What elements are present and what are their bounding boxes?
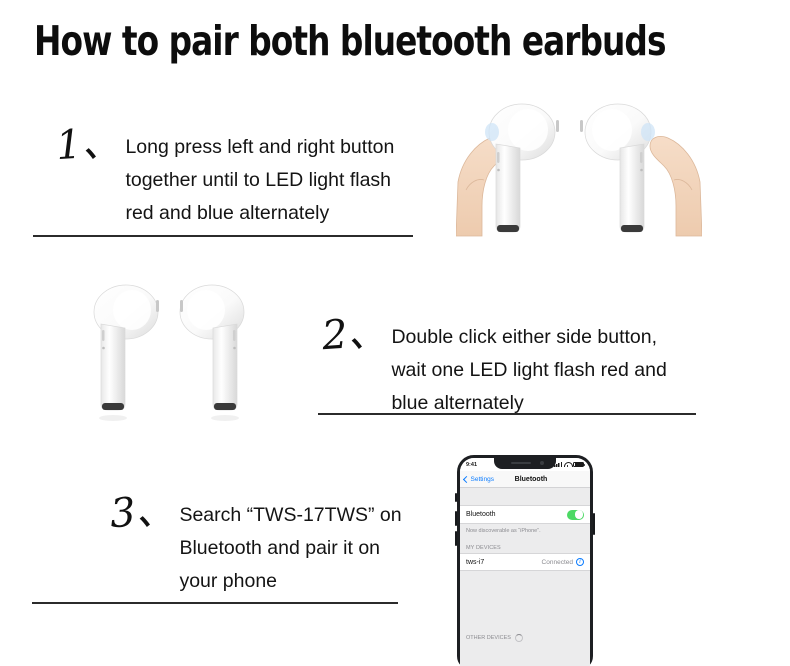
pairing-instruction-poster: How to pair both bluetooth earbuds 1、 Lo… <box>0 0 790 666</box>
iphone-bluetooth-screenshot: 9:41 Settings Bluetooth Bluetooth <box>457 455 593 666</box>
wifi-icon <box>564 462 571 467</box>
phone-volume-up-button <box>455 511 457 526</box>
battery-icon <box>573 462 584 468</box>
phone-screen: 9:41 Settings Bluetooth Bluetooth <box>460 458 590 666</box>
other-devices-label: OTHER DEVICES <box>466 635 511 641</box>
other-devices-section-header: OTHER DEVICES <box>460 631 590 645</box>
device-name: tws-i7 <box>466 559 484 566</box>
status-bar-icons <box>554 462 584 468</box>
list-empty-area <box>460 571 590 631</box>
bluetooth-toggle-switch[interactable] <box>567 510 584 520</box>
step-2-number: 2、 <box>321 312 389 356</box>
divider-2 <box>318 413 696 415</box>
divider-3 <box>32 602 398 604</box>
divider-1 <box>33 235 413 237</box>
step-3-number: 3、 <box>109 490 177 534</box>
loading-spinner-icon <box>515 634 523 642</box>
info-icon[interactable]: i <box>576 558 584 566</box>
discoverable-note: Now discoverable as “iPhone”. <box>460 524 590 540</box>
earbuds-pair-illustration <box>72 268 278 432</box>
bluetooth-toggle-row[interactable]: Bluetooth <box>460 505 590 524</box>
device-status-group: Connected i <box>542 558 584 566</box>
step-1-number: 1、 <box>55 122 123 166</box>
earpiece-speaker-icon <box>511 462 531 464</box>
bluetooth-row-label: Bluetooth <box>466 511 496 518</box>
earbuds-with-fingers-illustration <box>456 86 702 246</box>
step-1-text: Long press left and right button togethe… <box>125 124 394 230</box>
step-3: 3、 Search “TWS-17TWS” on Bluetooth and p… <box>110 492 402 598</box>
my-devices-section-header: MY DEVICES <box>460 540 590 553</box>
phone-mute-switch <box>455 493 457 502</box>
device-status: Connected <box>542 559 573 566</box>
list-top-spacer <box>460 488 590 505</box>
step-3-text: Search “TWS-17TWS” on Bluetooth and pair… <box>179 492 401 598</box>
step-2: 2、 Double click either side button, wait… <box>322 314 667 420</box>
front-camera-icon <box>540 461 544 465</box>
navigation-bar: Settings Bluetooth <box>460 471 590 488</box>
nav-title: Bluetooth <box>472 476 590 483</box>
step-2-text: Double click either side button, wait on… <box>391 314 666 420</box>
phone-power-button <box>593 513 595 535</box>
status-bar-time: 9:41 <box>466 462 477 468</box>
phone-notch <box>494 458 556 469</box>
step-1: 1、 Long press left and right button toge… <box>56 124 394 230</box>
chevron-left-icon <box>463 475 470 482</box>
device-row-tws-i7[interactable]: tws-i7 Connected i <box>460 553 590 571</box>
phone-volume-down-button <box>455 531 457 546</box>
page-title: How to pair both bluetooth earbuds <box>34 18 610 64</box>
